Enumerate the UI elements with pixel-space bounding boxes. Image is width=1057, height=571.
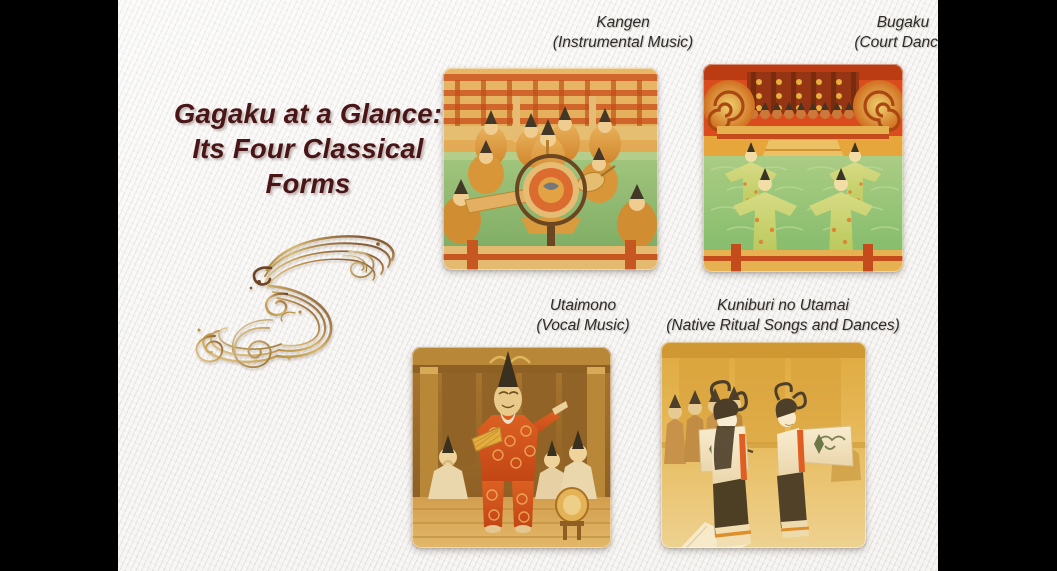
bugaku-dance-photo <box>703 64 903 272</box>
letterbox-left <box>0 0 118 571</box>
title-line-2: Its Four Classical <box>138 131 478 166</box>
kuniburi-no-utamai-photo <box>661 342 866 548</box>
caption-kuniburi-title: Kuniburi no Utamai <box>543 296 938 316</box>
image-card-kangen[interactable] <box>443 68 658 270</box>
title-line-3: Forms <box>138 166 478 201</box>
caption-kuniburi: Kuniburi no Utamai (Native Ritual Songs … <box>543 296 938 335</box>
image-card-kuniburi[interactable] <box>661 342 866 548</box>
kangen-ensemble-photo <box>443 68 658 270</box>
image-card-bugaku[interactable] <box>703 64 903 272</box>
slide-canvas: Gagaku at a Glance: Its Four Classical F… <box>118 0 938 571</box>
gold-swirl-ornament-icon <box>173 208 423 368</box>
letterbox-right <box>938 0 1057 571</box>
slide-content: Gagaku at a Glance: Its Four Classical F… <box>118 0 938 571</box>
utaimono-singer-photo <box>412 347 611 548</box>
slide-root: Gagaku at a Glance: Its Four Classical F… <box>0 0 1057 571</box>
caption-bugaku: Bugaku (Court Dance) <box>723 13 938 52</box>
title-line-1: Gagaku at a Glance: <box>138 96 478 131</box>
page-title: Gagaku at a Glance: Its Four Classical F… <box>138 96 478 201</box>
caption-bugaku-title: Bugaku <box>723 13 938 33</box>
caption-kuniburi-desc: (Native Ritual Songs and Dances) <box>543 316 938 336</box>
caption-bugaku-desc: (Court Dance) <box>723 33 938 53</box>
image-card-utaimono[interactable] <box>412 347 611 548</box>
